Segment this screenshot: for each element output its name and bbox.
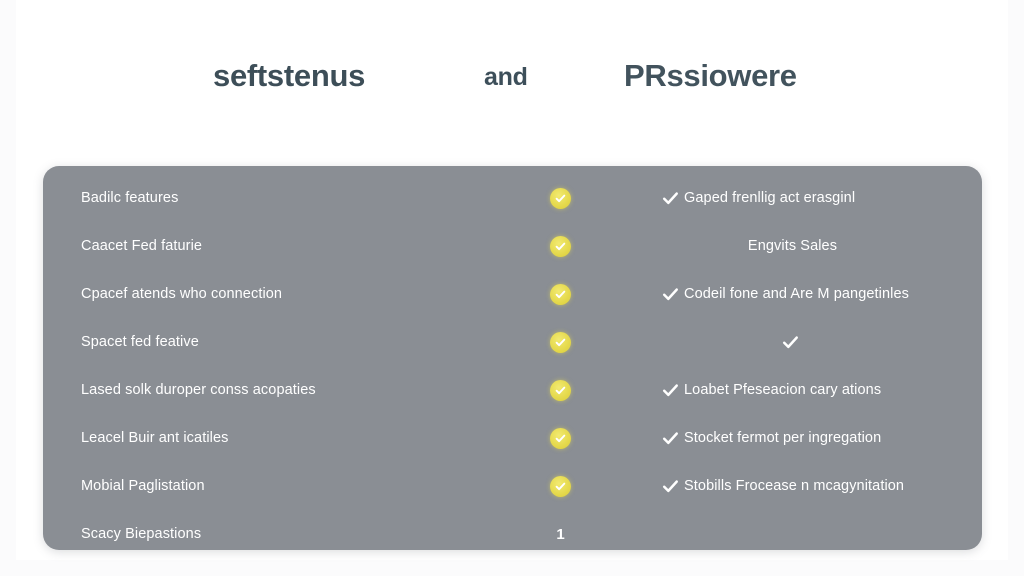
- right-column-cell: [603, 510, 982, 550]
- check-circle-icon: [550, 428, 571, 449]
- feature-label: Caacet Fed faturie: [81, 222, 481, 270]
- check-icon: [661, 381, 680, 400]
- check-icon: [781, 333, 800, 352]
- right-column-label: Stocket fermot per ingregation: [684, 430, 881, 446]
- check-icon: [661, 189, 680, 208]
- check-circle-icon: [550, 380, 571, 401]
- table-row[interactable]: Badilc featuresGaped frenllig act erasgi…: [43, 174, 982, 222]
- comparison-table-card: Badilc featuresGaped frenllig act erasgi…: [43, 166, 982, 550]
- table-row[interactable]: Mobial PaglistationStobills Frocease n m…: [43, 462, 982, 510]
- right-column-cell: Loabet Pfeseacion cary ations: [603, 366, 982, 414]
- table-row[interactable]: Scacy Biepastions1: [43, 510, 982, 550]
- check-circle-icon: [550, 284, 571, 305]
- table-row[interactable]: Leacel Buir ant icatilesStocket fermot p…: [43, 414, 982, 462]
- table-row[interactable]: Lased solk duroper conss acopatiesLoabet…: [43, 366, 982, 414]
- feature-label: Cpacef atends who connection: [81, 270, 481, 318]
- page-title-left: seftstenus: [213, 58, 365, 94]
- feature-label: Mobial Paglistation: [81, 462, 481, 510]
- feature-label: Spacet fed feative: [81, 318, 481, 366]
- count-value: 1: [556, 526, 564, 543]
- right-column-label: Stobills Frocease n mcagynitation: [684, 478, 904, 494]
- table-row[interactable]: Spacet fed feative: [43, 318, 982, 366]
- table-row[interactable]: Cpacef atends who connectionCodeil fone …: [43, 270, 982, 318]
- right-column-cell: Codeil fone and Are M pangetinles: [603, 270, 982, 318]
- check-circle-icon: [550, 188, 571, 209]
- feature-label: Leacel Buir ant icatiles: [81, 414, 481, 462]
- check-icon: [661, 477, 680, 496]
- right-column-cell: Stocket fermot per ingregation: [603, 414, 982, 462]
- right-column-cell: [603, 318, 982, 366]
- right-column-label: Codeil fone and Are M pangetinles: [684, 286, 909, 302]
- check-circle-icon: [550, 476, 571, 497]
- check-icon: [661, 429, 680, 448]
- check-icon: [661, 285, 680, 304]
- feature-label: Scacy Biepastions: [81, 510, 481, 550]
- right-column-label: Gaped frenllig act erasginl: [684, 190, 855, 206]
- page-title: seftstenus and PRssiowere: [16, 58, 1008, 110]
- page-title-conjunction: and: [484, 63, 528, 92]
- right-column-label: Loabet Pfeseacion cary ations: [684, 382, 881, 398]
- check-circle-icon: [550, 236, 571, 257]
- right-column-cell: Stobills Frocease n mcagynitation: [603, 462, 982, 510]
- right-column-cell: Gaped frenllig act erasginl: [603, 174, 982, 222]
- right-column-cell: Engvits Sales: [603, 222, 982, 270]
- page-frame: seftstenus and PRssiowere Badilc feature…: [0, 0, 1024, 576]
- feature-label: Badilc features: [81, 174, 481, 222]
- table-row[interactable]: Caacet Fed faturieEngvits Sales: [43, 222, 982, 270]
- feature-label: Lased solk duroper conss acopaties: [81, 366, 481, 414]
- page-title-right: PRssiowere: [624, 58, 797, 94]
- right-column-label: Engvits Sales: [748, 238, 837, 254]
- check-circle-icon: [550, 332, 571, 353]
